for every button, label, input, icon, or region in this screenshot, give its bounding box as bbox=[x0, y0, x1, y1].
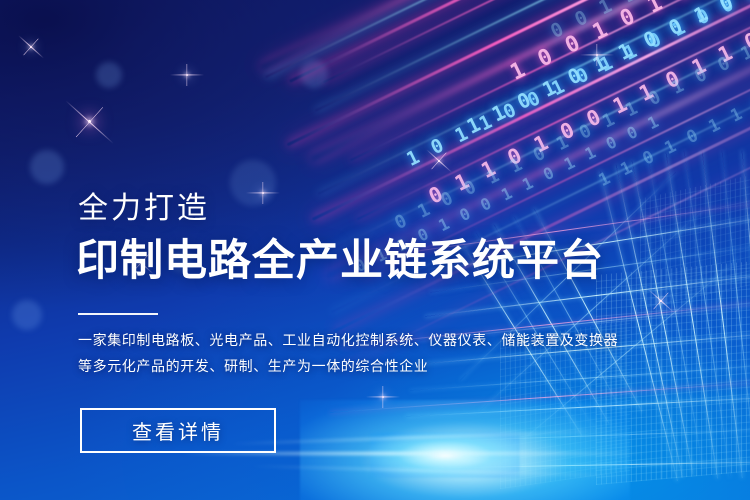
banner-headline: 印制电路全产业链系统平台 bbox=[76, 238, 604, 284]
banner-content: 全力打造 印制电路全产业链系统平台 一家集印制电路板、光电产品、工业自动化控制系… bbox=[78, 0, 638, 500]
banner-description: 一家集印制电路板、光电产品、工业自动化控制系统、仪器仪表、储能装置及变换器 等多… bbox=[78, 327, 583, 379]
view-details-button[interactable]: 查看详情 bbox=[80, 408, 276, 453]
hero-banner: 1 0 1 1 0 0 1 0 1 1 0 1 0 0 1 1 0 1 1 0 … bbox=[0, 0, 750, 500]
description-line-2: 等多元化产品的开发、研制、生产为一体的综合性企业 bbox=[78, 353, 583, 379]
description-line-1: 一家集印制电路板、光电产品、工业自动化控制系统、仪器仪表、储能装置及变换器 bbox=[78, 327, 583, 353]
divider-rule bbox=[78, 313, 158, 315]
banner-eyebrow: 全力打造 bbox=[78, 194, 210, 224]
